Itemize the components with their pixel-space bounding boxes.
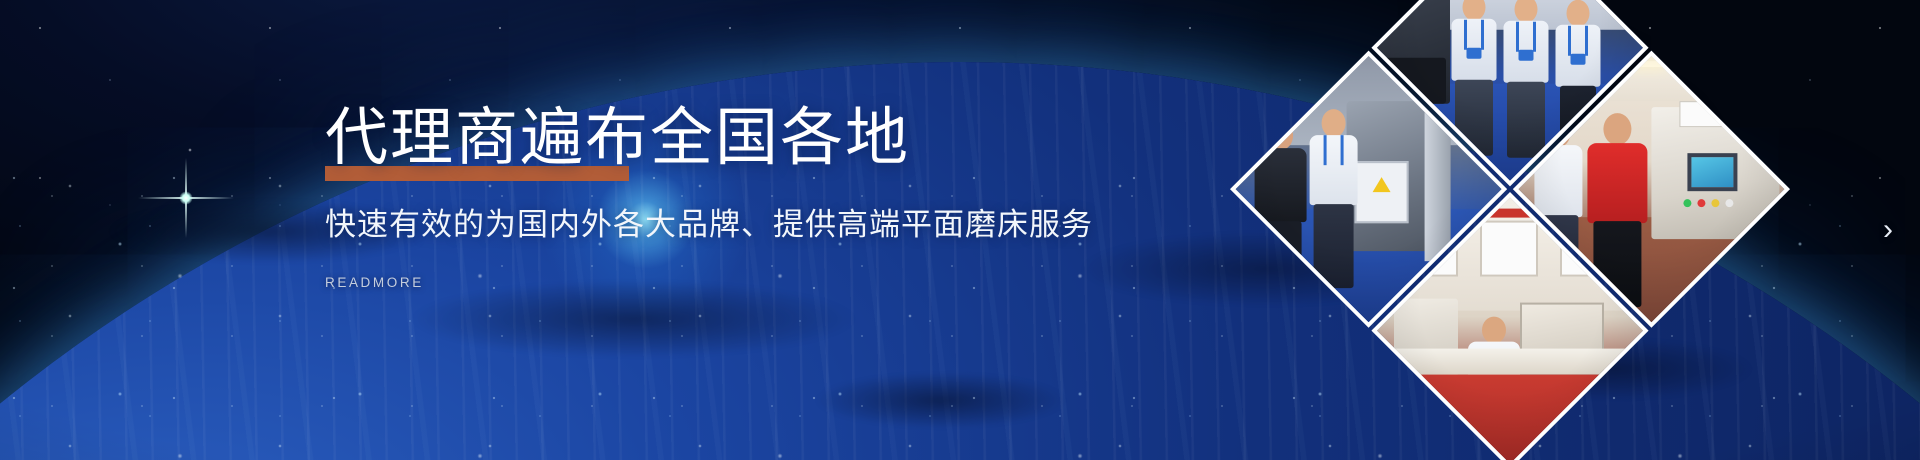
carousel-next-arrow-icon[interactable]: › [1872,214,1904,246]
headline-wrapper: 代理商遍布全国各地 [325,104,910,172]
warning-triangle-icon [1373,177,1391,192]
banner-subheadline: 快速有效的为国内外各大品牌、提供高端平面磨床服务 [325,206,1085,245]
banner-headline: 代理商遍布全国各地 [325,104,910,172]
banner-text-block: 代理商遍布全国各地 快速有效的为国内外各大品牌、提供高端平面磨床服务 READM… [325,104,1085,292]
hero-banner: 代理商遍布全国各地 快速有效的为国内外各大品牌、提供高端平面磨床服务 READM… [0,0,1920,460]
read-more-link[interactable]: READMORE [325,275,424,290]
